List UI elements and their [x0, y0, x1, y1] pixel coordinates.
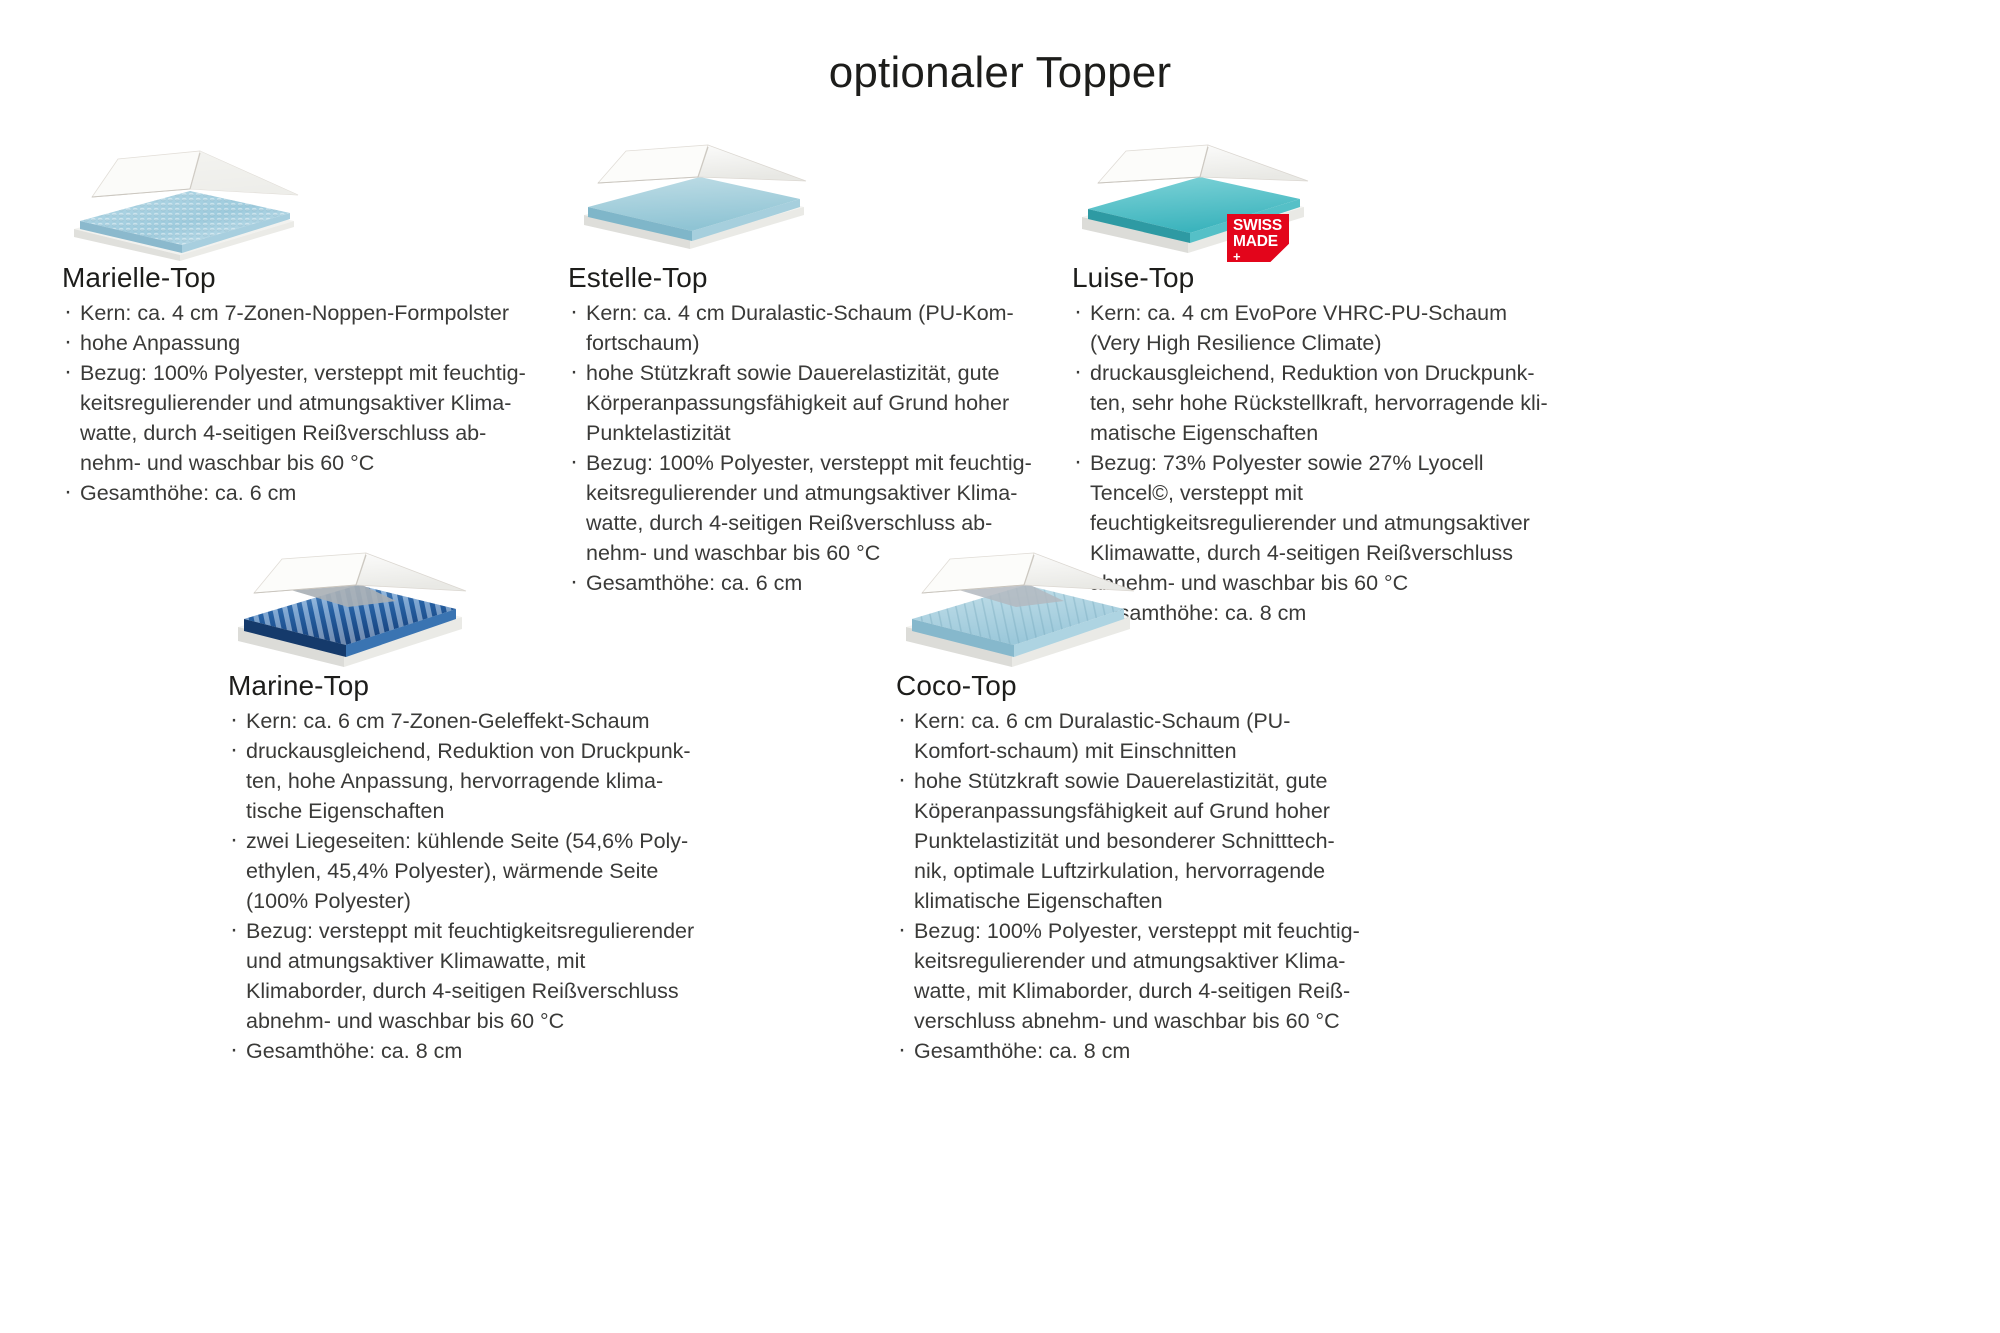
- estelle-top-mattress-image: [568, 137, 808, 262]
- list-item: Bezug: 100% Polyester, versteppt mit feu…: [62, 358, 532, 478]
- page-title: optionaler Topper: [0, 48, 2000, 98]
- product-title: Marine-Top: [228, 670, 698, 702]
- product-image-container: [568, 140, 1038, 262]
- product-title: Luise-Top: [1072, 262, 1552, 294]
- list-item: Kern: ca. 4 cm EvoPore VHRC-PU-Schaum (V…: [1072, 298, 1552, 358]
- product-card-marine: Marine-Top Kern: ca. 6 cm 7-Zonen-Geleff…: [228, 548, 698, 1066]
- list-item: Kern: ca. 6 cm Duralastic-Schaum (PU-Kom…: [896, 706, 1366, 766]
- product-feature-list: Kern: ca. 4 cm 7-Zonen-Noppen-Formpolste…: [62, 298, 532, 508]
- list-item: hohe Stützkraft sowie Dauerelastizität, …: [568, 358, 1038, 448]
- list-item: Gesamthöhe: ca. 8 cm: [228, 1036, 698, 1066]
- list-item: druckausgleichend, Reduktion von Druckpu…: [1072, 358, 1552, 448]
- list-item: Bezug: versteppt mit feuchtigkeitsreguli…: [228, 916, 698, 1036]
- product-title: Estelle-Top: [568, 262, 1038, 294]
- coco-top-mattress-image: [896, 545, 1136, 670]
- product-feature-list: Kern: ca. 6 cm 7-Zonen-Geleffekt-Schaum …: [228, 706, 698, 1066]
- list-item: hohe Anpassung: [62, 328, 532, 358]
- product-title: Coco-Top: [896, 670, 1366, 702]
- product-image-container: [62, 140, 532, 262]
- list-item: Gesamthöhe: ca. 8 cm: [896, 1036, 1366, 1066]
- product-feature-list: Kern: ca. 6 cm Duralastic-Schaum (PU-Kom…: [896, 706, 1366, 1066]
- swiss-made-line-2: MADE: [1233, 234, 1289, 250]
- list-item: Kern: ca. 4 cm 7-Zonen-Noppen-Formpolste…: [62, 298, 532, 328]
- list-item: Kern: ca. 4 cm Duralastic-Schaum (PU-Kom…: [568, 298, 1038, 358]
- marielle-top-mattress-image: [62, 137, 302, 262]
- list-item: Kern: ca. 6 cm 7-Zonen-Geleffekt-Schaum: [228, 706, 698, 736]
- product-image-container: [228, 548, 698, 670]
- marine-top-mattress-image: [228, 545, 468, 670]
- list-item: zwei Liegeseiten: kühlende Seite (54,6% …: [228, 826, 698, 916]
- list-item: Gesamthöhe: ca. 6 cm: [62, 478, 532, 508]
- list-item: druckausgleichend, Reduktion von Druckpu…: [228, 736, 698, 826]
- product-title: Marielle-Top: [62, 262, 532, 294]
- list-item: Bezug: 100% Polyester, versteppt mit feu…: [896, 916, 1366, 1036]
- swiss-made-line-1: SWISS: [1233, 218, 1289, 234]
- product-image-container: SWISS MADE +: [1072, 140, 1552, 262]
- list-item: hohe Stützkraft sowie Dauerelastizität, …: [896, 766, 1366, 916]
- product-image-container: [896, 548, 1366, 670]
- product-card-marielle: Marielle-Top Kern: ca. 4 cm 7-Zonen-Nopp…: [62, 140, 532, 508]
- product-card-estelle: Estelle-Top Kern: ca. 4 cm Duralastic-Sc…: [568, 140, 1038, 598]
- product-card-coco: Coco-Top Kern: ca. 6 cm Duralastic-Schau…: [896, 548, 1366, 1066]
